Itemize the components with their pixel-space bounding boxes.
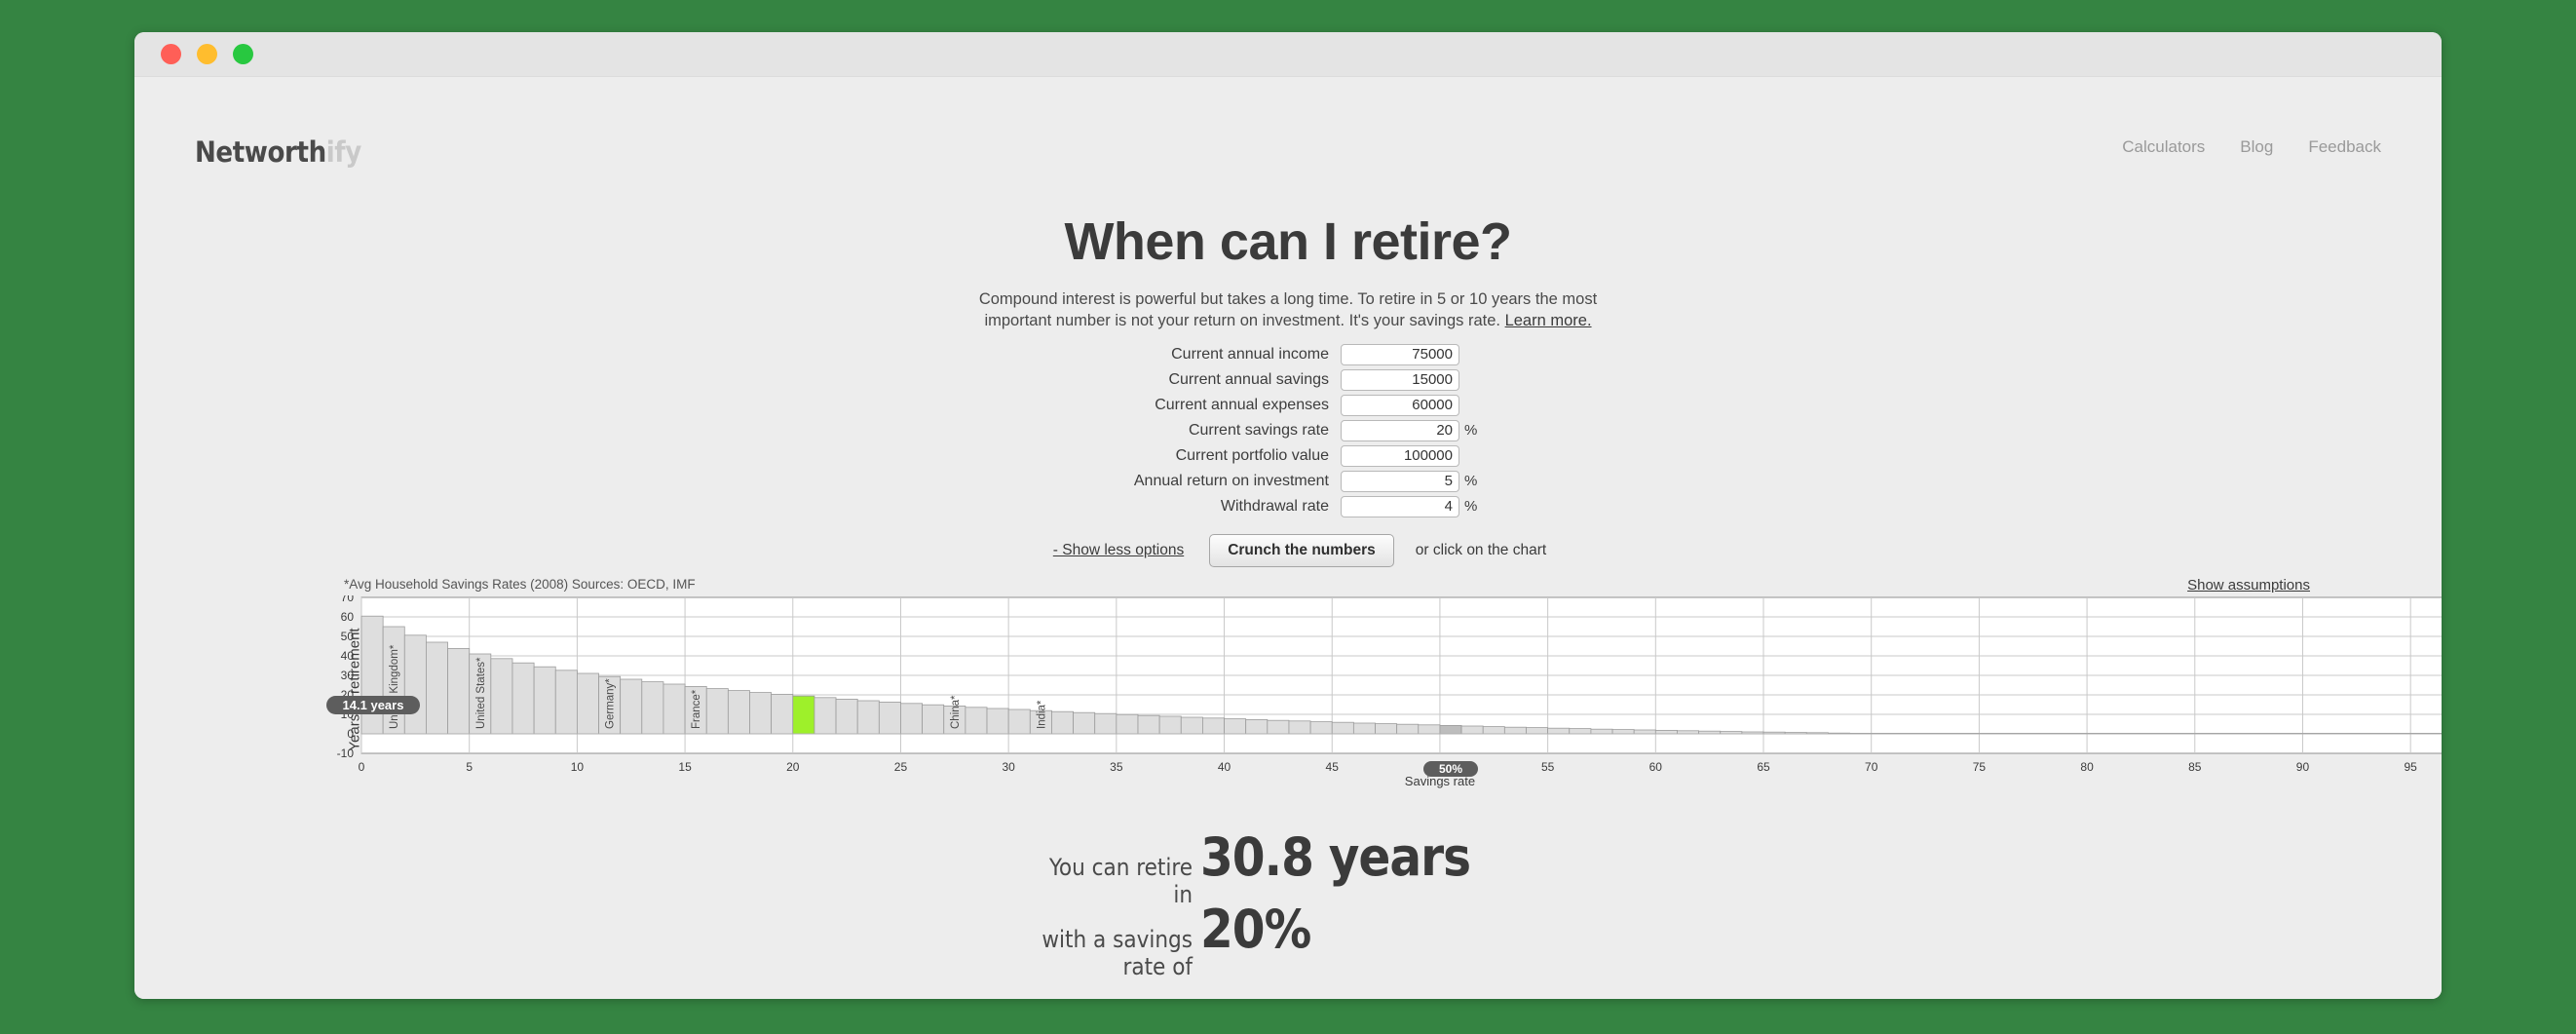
show-less-options-link[interactable]: - Show less options [1053,542,1184,559]
maximize-button[interactable] [233,44,253,64]
hero-section: When can I retire? Compound interest is … [134,211,2442,332]
svg-text:China*: China* [950,695,962,729]
label-current-annual-savings: Current annual savings [1095,371,1341,389]
calculator-form: Current annual income Current annual sav… [134,342,2442,567]
nav-feedback[interactable]: Feedback [2308,137,2381,157]
svg-text:10: 10 [571,760,585,774]
field-row-annual-return-on-investment: Annual return on investment % [1095,469,1481,493]
savings-rate-chart[interactable]: -10010203040506070United Kingdom*United … [305,595,2442,790]
label-current-portfolio-value: Current portfolio value [1095,447,1341,465]
crunch-the-numbers-button[interactable]: Crunch the numbers [1209,534,1394,567]
svg-text:80: 80 [2080,760,2094,774]
savings-rate-result-row: with a savings rate of 20% [134,904,2442,980]
svg-text:35: 35 [1110,760,1123,774]
withdrawal-rate-input[interactable] [1341,496,1459,517]
svg-text:50: 50 [341,630,355,643]
page-subtitle: Compound interest is powerful but takes … [952,289,1624,332]
suffix-annual-return-on-investment: % [1459,473,1481,489]
svg-text:40: 40 [1218,760,1231,774]
savings-rate-label: with a savings rate of [1025,926,1200,980]
current-savings-rate-input[interactable] [1341,420,1459,441]
form-actions: - Show less options Crunch the numbers o… [1053,534,1546,567]
svg-text:-10: -10 [337,747,355,760]
svg-text:25: 25 [894,760,908,774]
svg-text:40: 40 [341,649,355,663]
field-row-current-savings-rate: Current savings rate % [1095,418,1481,442]
current-annual-expenses-input[interactable] [1341,395,1459,416]
current-annual-income-input[interactable] [1341,344,1459,365]
logo-main: Networth [195,135,326,169]
site-logo[interactable]: Networthify [195,135,361,169]
suffix-current-savings-rate: % [1459,422,1481,439]
svg-text:70: 70 [1865,760,1878,774]
svg-text:20: 20 [786,760,800,774]
label-current-savings-rate: Current savings rate [1095,422,1341,440]
svg-text:5: 5 [466,760,473,774]
field-row-current-annual-expenses: Current annual expenses [1095,393,1481,417]
field-row-withdrawal-rate: Withdrawal rate % [1095,494,1481,518]
learn-more-link[interactable]: Learn more. [1505,312,1592,329]
savings-rate-value: 20% [1200,904,1551,954]
nav-blog[interactable]: Blog [2240,137,2273,157]
annual-return-on-investment-input[interactable] [1341,471,1459,492]
svg-text:14.1 years: 14.1 years [343,698,404,712]
svg-text:30: 30 [341,669,355,682]
svg-text:30: 30 [1002,760,1015,774]
field-row-current-portfolio-value: Current portfolio value [1095,443,1481,468]
retire-label: You can retire in [1025,854,1200,908]
svg-text:55: 55 [1541,760,1555,774]
page-content: Networthify Calculators Blog Feedback Wh… [134,77,2442,999]
retire-result-row: You can retire in 30.8 years [134,832,2442,908]
svg-text:60: 60 [341,610,355,624]
close-button[interactable] [161,44,181,64]
main-nav: Calculators Blog Feedback [2122,137,2381,157]
label-current-annual-expenses: Current annual expenses [1095,397,1341,414]
show-assumptions-link[interactable]: Show assumptions [2187,577,2310,594]
label-current-annual-income: Current annual income [1095,346,1341,364]
svg-text:60: 60 [1649,760,1663,774]
logo-accent: ify [326,135,361,169]
svg-text:45: 45 [1326,760,1340,774]
or-click-chart-hint: or click on the chart [1416,542,1546,559]
window-titlebar [134,32,2442,77]
minimize-button[interactable] [197,44,217,64]
results-section: You can retire in 30.8 years with a savi… [134,832,2442,999]
svg-text:50%: 50% [1439,762,1462,776]
chart-source-note: *Avg Household Savings Rates (2008) Sour… [344,577,696,592]
suffix-withdrawal-rate: % [1459,498,1481,515]
field-row-current-annual-savings: Current annual savings [1095,367,1481,392]
svg-text:0: 0 [347,727,354,741]
current-annual-savings-input[interactable] [1341,369,1459,391]
svg-text:United States*: United States* [475,657,487,729]
svg-text:75: 75 [1973,760,1987,774]
current-portfolio-value-input[interactable] [1341,445,1459,467]
svg-text:90: 90 [2296,760,2310,774]
svg-text:85: 85 [2188,760,2202,774]
svg-text:United Kingdom*: United Kingdom* [389,644,400,729]
field-row-current-annual-income: Current annual income [1095,342,1481,366]
svg-text:France*: France* [691,689,702,729]
label-withdrawal-rate: Withdrawal rate [1095,498,1341,516]
nav-calculators[interactable]: Calculators [2122,137,2205,157]
browser-window: Networthify Calculators Blog Feedback Wh… [134,32,2442,999]
svg-text:65: 65 [1757,760,1770,774]
svg-text:Germany*: Germany* [605,678,617,729]
page-title: When can I retire? [134,211,2442,272]
svg-text:95: 95 [2404,760,2417,774]
svg-text:70: 70 [341,595,355,604]
svg-text:India*: India* [1036,700,1047,729]
svg-text:0: 0 [359,760,365,774]
label-annual-return-on-investment: Annual return on investment [1095,473,1341,490]
retire-value: 30.8 years [1200,832,1551,882]
svg-text:15: 15 [678,760,692,774]
